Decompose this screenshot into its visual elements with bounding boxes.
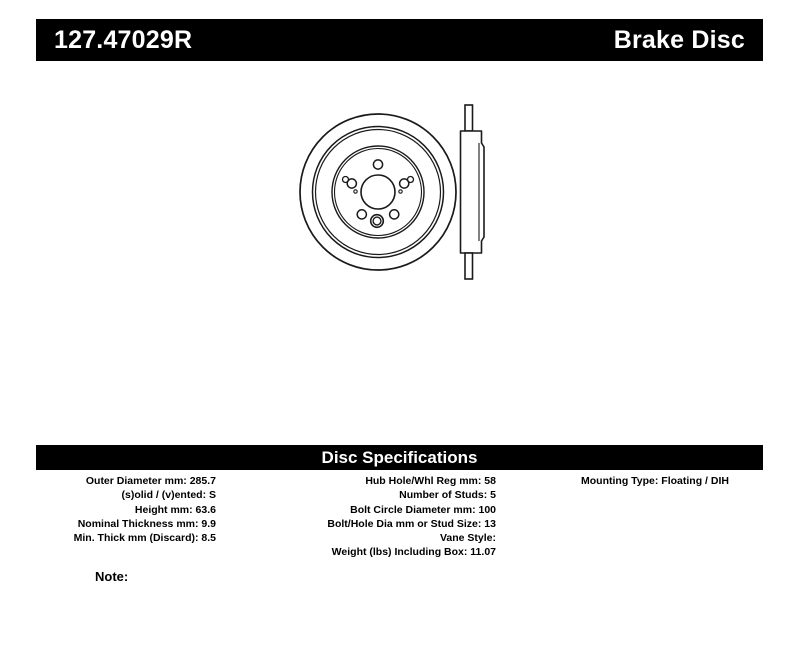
note-block: Note: [95, 568, 128, 586]
spec-row: Bolt Circle Diameter mm: 100 [246, 503, 496, 517]
rotor-outer-edge-circle [300, 114, 456, 270]
hat-outer-circle [335, 149, 422, 236]
disc-specifications-title: Disc Specifications [322, 449, 478, 466]
spec-row: Mounting Type: Floating / DIH [581, 474, 763, 488]
part-number: 127.47029R [54, 28, 192, 53]
spec-row: Vane Style: [246, 531, 496, 545]
spec-row: Number of Studs: 5 [246, 488, 496, 502]
spec-column-middle: Hub Hole/Whl Reg mm: 58 Number of Studs:… [246, 474, 496, 560]
side-view-top-tab [465, 105, 473, 131]
stud-hole [357, 210, 366, 219]
brake-disc-drawing-svg [270, 95, 550, 305]
removal-hole-inner [373, 217, 381, 225]
page-title: Brake Disc [614, 28, 745, 53]
pilot-hole-small [399, 190, 402, 193]
stud-hole [373, 160, 382, 169]
pilot-hole [343, 177, 349, 183]
header-banner: 127.47029R Brake Disc [36, 19, 763, 61]
stud-hole [390, 210, 399, 219]
spec-row: (s)olid / (v)ented: S [36, 488, 216, 502]
brake-disc-side-section-view [461, 105, 485, 279]
spec-row: Nominal Thickness mm: 9.9 [36, 517, 216, 531]
note-label: Note: [95, 569, 128, 584]
spec-row: Outer Diameter mm: 285.7 [36, 474, 216, 488]
technical-drawing [270, 95, 550, 305]
spec-row: Bolt/Hole Dia mm or Stud Size: 13 [246, 517, 496, 531]
spec-row: Weight (lbs) Including Box: 11.07 [246, 545, 496, 559]
spec-column-right: Mounting Type: Floating / DIH [581, 474, 763, 488]
spec-column-left: Outer Diameter mm: 285.7 (s)olid / (v)en… [36, 474, 216, 545]
pilot-hole-small [354, 190, 357, 193]
side-view-disc-body [461, 131, 485, 253]
disc-specifications-header: Disc Specifications [36, 445, 763, 470]
spec-row: Hub Hole/Whl Reg mm: 58 [246, 474, 496, 488]
pilot-hole [408, 177, 414, 183]
brake-disc-front-view [300, 114, 456, 270]
spec-row: Height mm: 63.6 [36, 503, 216, 517]
spec-row: Min. Thick mm (Discard): 8.5 [36, 531, 216, 545]
side-view-bottom-tab [465, 253, 473, 279]
hub-bore-circle [361, 175, 395, 209]
